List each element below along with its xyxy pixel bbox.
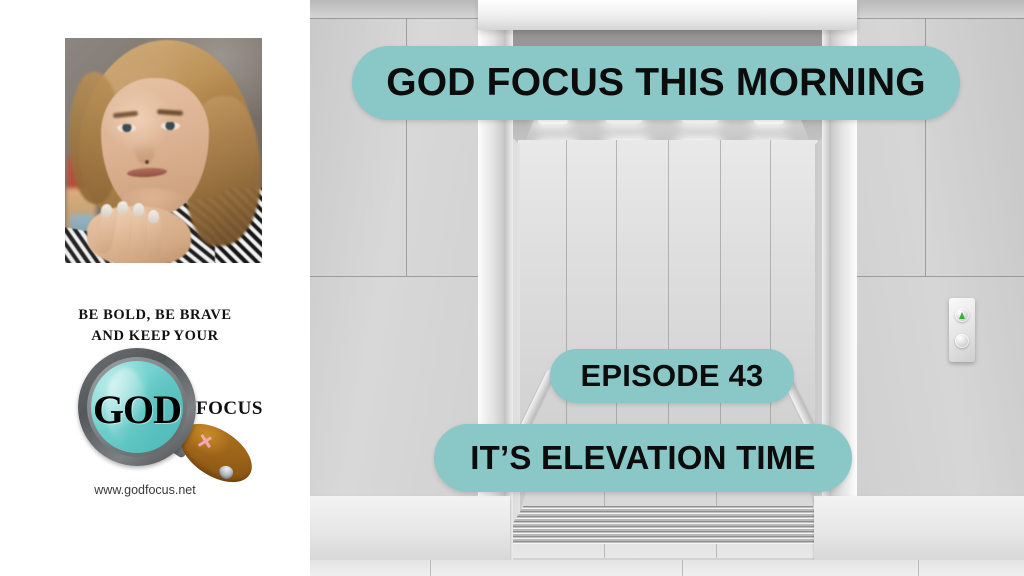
cross-icon [195,431,216,452]
dove-icon [217,463,236,482]
call-up-button[interactable] [955,308,969,322]
left-branding-panel: BE BOLD, BE BRAVE AND KEEP YOUR GOD FOCU… [0,0,310,576]
logo-word-focus: FOCUS [196,398,263,420]
corridor-baseboard-left [310,496,510,562]
photo-fingernail [133,203,145,217]
photo-eye [117,124,136,132]
title-text: GOD FOCUS THIS MORNING [386,61,926,105]
elevator-frame-header [478,0,857,30]
up-arrow-icon [959,312,965,319]
elevator-call-panel[interactable] [949,298,975,362]
photo-fingernail [148,210,159,223]
floor-tile-seam [430,560,431,576]
title-banner: GOD FOCUS THIS MORNING [352,46,960,120]
tagline-line-1: BE BOLD, BE BRAVE [0,305,310,326]
call-down-button[interactable] [955,334,969,348]
photo-eye [161,122,180,130]
subtitle-text: IT’S ELEVATION TIME [470,439,815,477]
episode-text: EPISODE 43 [581,358,764,394]
floor-tile-seam [682,560,683,576]
subtitle-banner: IT’S ELEVATION TIME [434,424,852,492]
slide-canvas: GOD FOCUS THIS MORNING EPISODE 43 IT’S E… [0,0,1024,576]
episode-banner: EPISODE 43 [550,349,794,403]
floor-tile-seam [918,560,919,576]
host-headshot-photo [65,38,262,263]
website-url: www.godfocus.net [0,483,290,497]
god-focus-logo: GOD FOCUS www.godfocus.net [0,340,310,510]
logo-word-god: GOD [78,386,196,433]
photo-mole [145,160,149,164]
corridor-baseboard-right [814,496,1024,562]
elevator-door-sill [500,506,836,544]
corridor-floor [310,560,1024,576]
